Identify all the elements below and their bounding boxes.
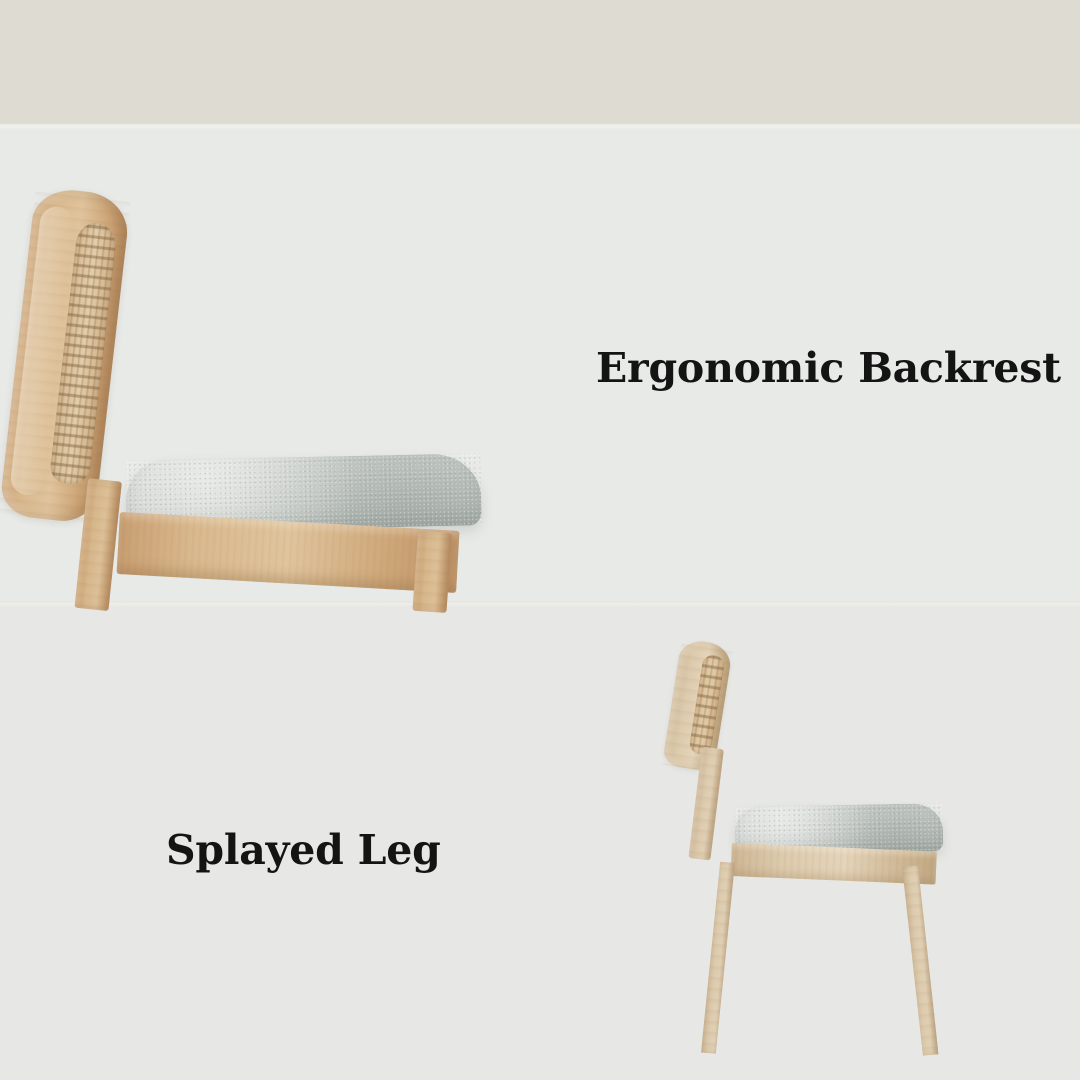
- backrest-frame: [0, 186, 131, 525]
- front-leg: [412, 531, 451, 613]
- feature-label-splayed-leg: Splayed Leg: [166, 830, 441, 871]
- chair-full-profile: [660, 630, 980, 1060]
- feature-label-ergonomic-backrest: Ergonomic Backrest: [596, 348, 1061, 389]
- front-leg-splayed: [902, 865, 938, 1056]
- product-feature-stage: Ergonomic Backrest: [0, 0, 1080, 1080]
- top-banner-band: [0, 0, 1080, 124]
- rear-leg-splayed: [701, 861, 735, 1054]
- chair-closeup: [0, 160, 520, 610]
